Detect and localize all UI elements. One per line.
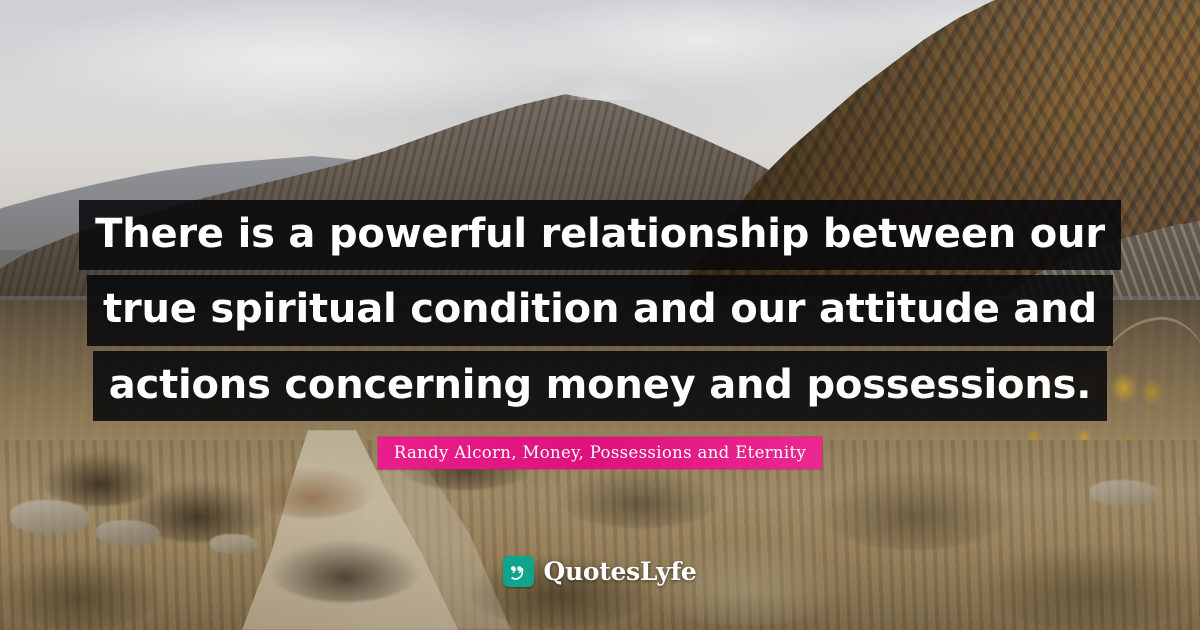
quote-line-1: There is a powerful relationship between… bbox=[79, 200, 1121, 270]
watermark-brand: QuotesLyfe bbox=[543, 557, 696, 586]
quote-line-2: true spiritual condition and our attitud… bbox=[87, 275, 1113, 345]
attribution-band: Randy Alcorn, Money, Possessions and Ete… bbox=[378, 437, 822, 469]
quote-marks-icon bbox=[503, 556, 534, 587]
attribution-wrapper: Randy Alcorn, Money, Possessions and Ete… bbox=[0, 437, 1200, 469]
quote-text-block: There is a powerful relationship between… bbox=[0, 200, 1200, 421]
quote-image-canvas: There is a powerful relationship between… bbox=[0, 0, 1200, 630]
watermark: QuotesLyfe bbox=[0, 556, 1200, 587]
quote-line-3: actions concerning money and possessions… bbox=[93, 351, 1107, 421]
